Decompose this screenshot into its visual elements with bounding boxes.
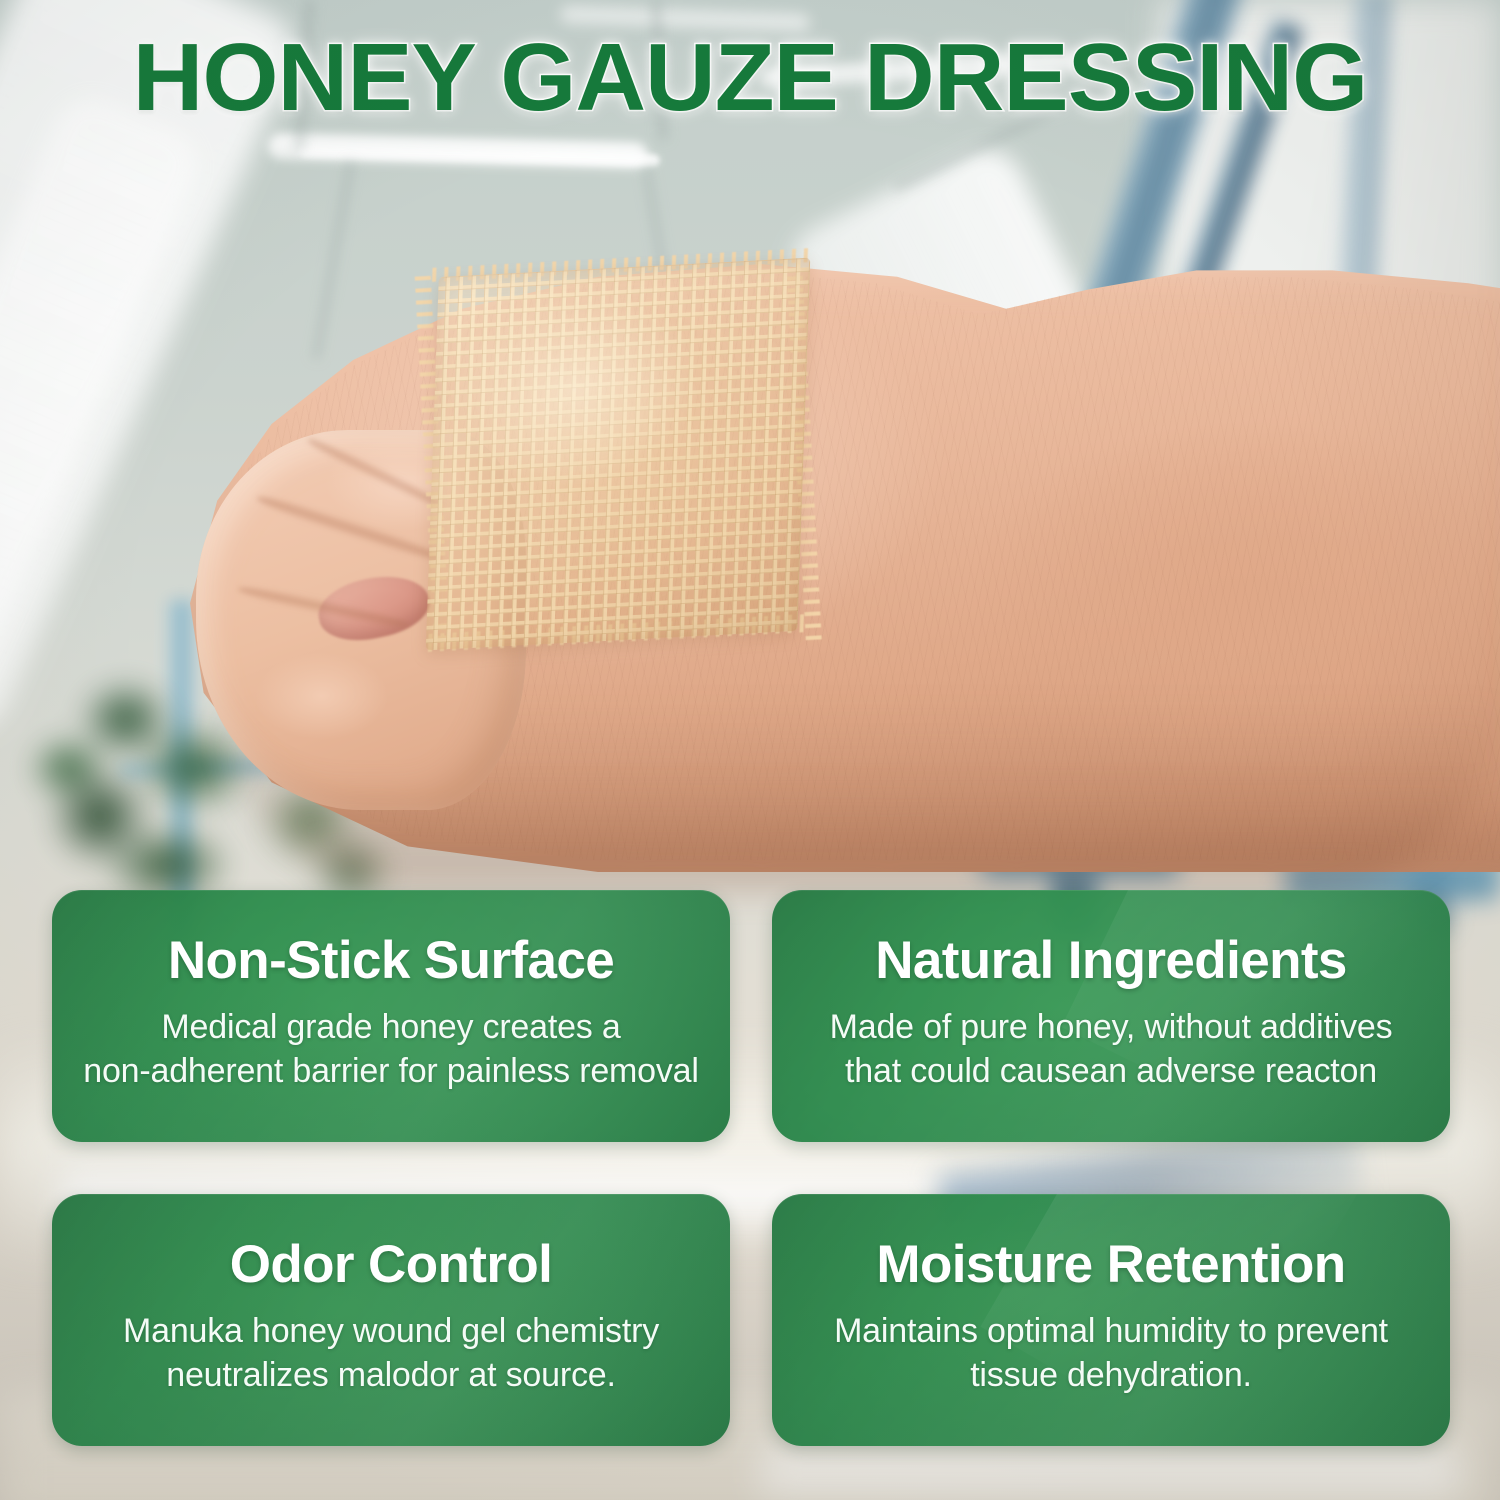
feature-card-description: Medical grade honey creates a non-adhere… [83, 1005, 698, 1093]
feature-card-title: Non-Stick Surface [168, 933, 614, 989]
feature-card-line: Manuka honey wound gel chemistry [123, 1309, 659, 1353]
corridor-bench [980, 818, 1180, 878]
feature-card-title: Natural Ingredients [875, 933, 1347, 989]
ceiling-panel-seam [313, 161, 355, 359]
feature-card-grid: Non-Stick Surface Medical grade honey cr… [52, 890, 1450, 1446]
feature-card-description: Manuka honey wound gel chemistry neutral… [123, 1309, 659, 1397]
door-frame-beam [1215, 430, 1345, 730]
feature-card-line: tissue dehydration. [834, 1353, 1388, 1397]
page-title: HONEY GAUZE DRESSING [0, 30, 1500, 126]
feature-card-natural-ingredients[interactable]: Natural Ingredients Made of pure honey, … [772, 890, 1450, 1142]
corridor-counter [1250, 790, 1500, 824]
feature-card-moisture-retention[interactable]: Moisture Retention Maintains optimal hum… [772, 1194, 1450, 1446]
corridor-object [985, 790, 1019, 820]
feature-card-line: neutralizes malodor at source. [123, 1353, 659, 1397]
feature-card-description: Maintains optimal humidity to prevent ti… [834, 1309, 1388, 1397]
ceiling-panel-seam [643, 168, 673, 317]
feature-card-line: Medical grade honey creates a [83, 1005, 698, 1049]
corridor-object [1040, 792, 1076, 822]
feature-card-odor-control[interactable]: Odor Control Manuka honey wound gel chem… [52, 1194, 730, 1446]
product-infographic-poster: HONEY GAUZE DRESSING Non-Stick Surface M… [0, 0, 1500, 1500]
feature-card-line: non-adherent barrier for painless remova… [83, 1049, 698, 1093]
feature-card-line: that could causean adverse reacton [830, 1049, 1393, 1093]
feature-card-description: Made of pure honey, without additives th… [830, 1005, 1393, 1093]
feature-card-non-stick-surface[interactable]: Non-Stick Surface Medical grade honey cr… [52, 890, 730, 1142]
feature-card-title: Moisture Retention [876, 1237, 1345, 1293]
feature-card-line: Made of pure honey, without additives [830, 1005, 1393, 1049]
feature-card-line: Maintains optimal humidity to prevent [834, 1309, 1388, 1353]
feature-card-title: Odor Control [230, 1237, 553, 1293]
